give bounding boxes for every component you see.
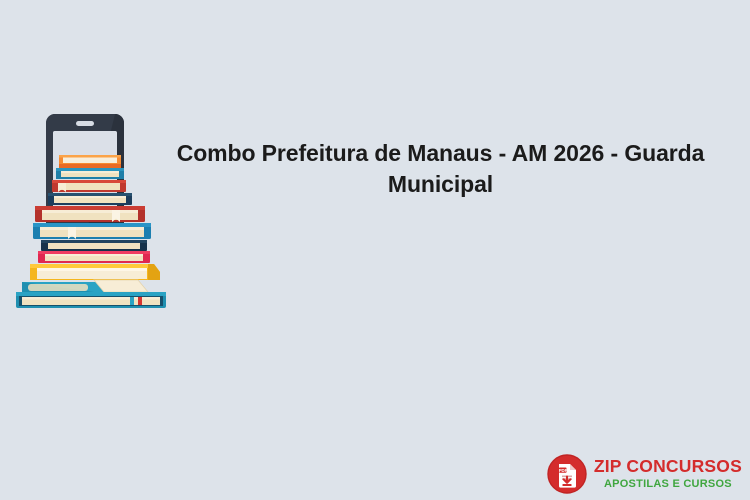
book-layer-teal-small xyxy=(56,168,124,179)
product-banner-card: Combo Prefeitura de Manaus - AM 2026 - G… xyxy=(0,0,750,500)
book-layer-red-large xyxy=(35,206,145,222)
pdf-download-icon: PDF xyxy=(547,454,587,494)
stack-of-books-with-tablet-icon xyxy=(8,112,180,312)
book-layer-yellow xyxy=(30,264,160,280)
brand-logo[interactable]: PDF ZIP CONCURSOS APOSTILAS E CURSOS xyxy=(547,454,742,494)
logo-primary-text: ZIP CONCURSOS xyxy=(594,458,742,476)
book-layer-base xyxy=(16,292,166,308)
book-layer-teal-bottom-open xyxy=(22,280,148,292)
book-layer-navy-1 xyxy=(48,193,132,205)
logo-secondary-text: APOSTILAS E CURSOS xyxy=(594,479,742,490)
book-layer-crimson xyxy=(38,251,150,263)
pdf-label: PDF xyxy=(559,468,568,473)
book-layer-blue-large xyxy=(33,223,151,239)
product-title: Combo Prefeitura de Manaus - AM 2026 - G… xyxy=(168,138,713,200)
logo-wordmark: ZIP CONCURSOS APOSTILAS E CURSOS xyxy=(594,458,742,490)
book-layer-navy-2 xyxy=(41,240,147,251)
book-layer-darkred-small xyxy=(52,180,126,192)
